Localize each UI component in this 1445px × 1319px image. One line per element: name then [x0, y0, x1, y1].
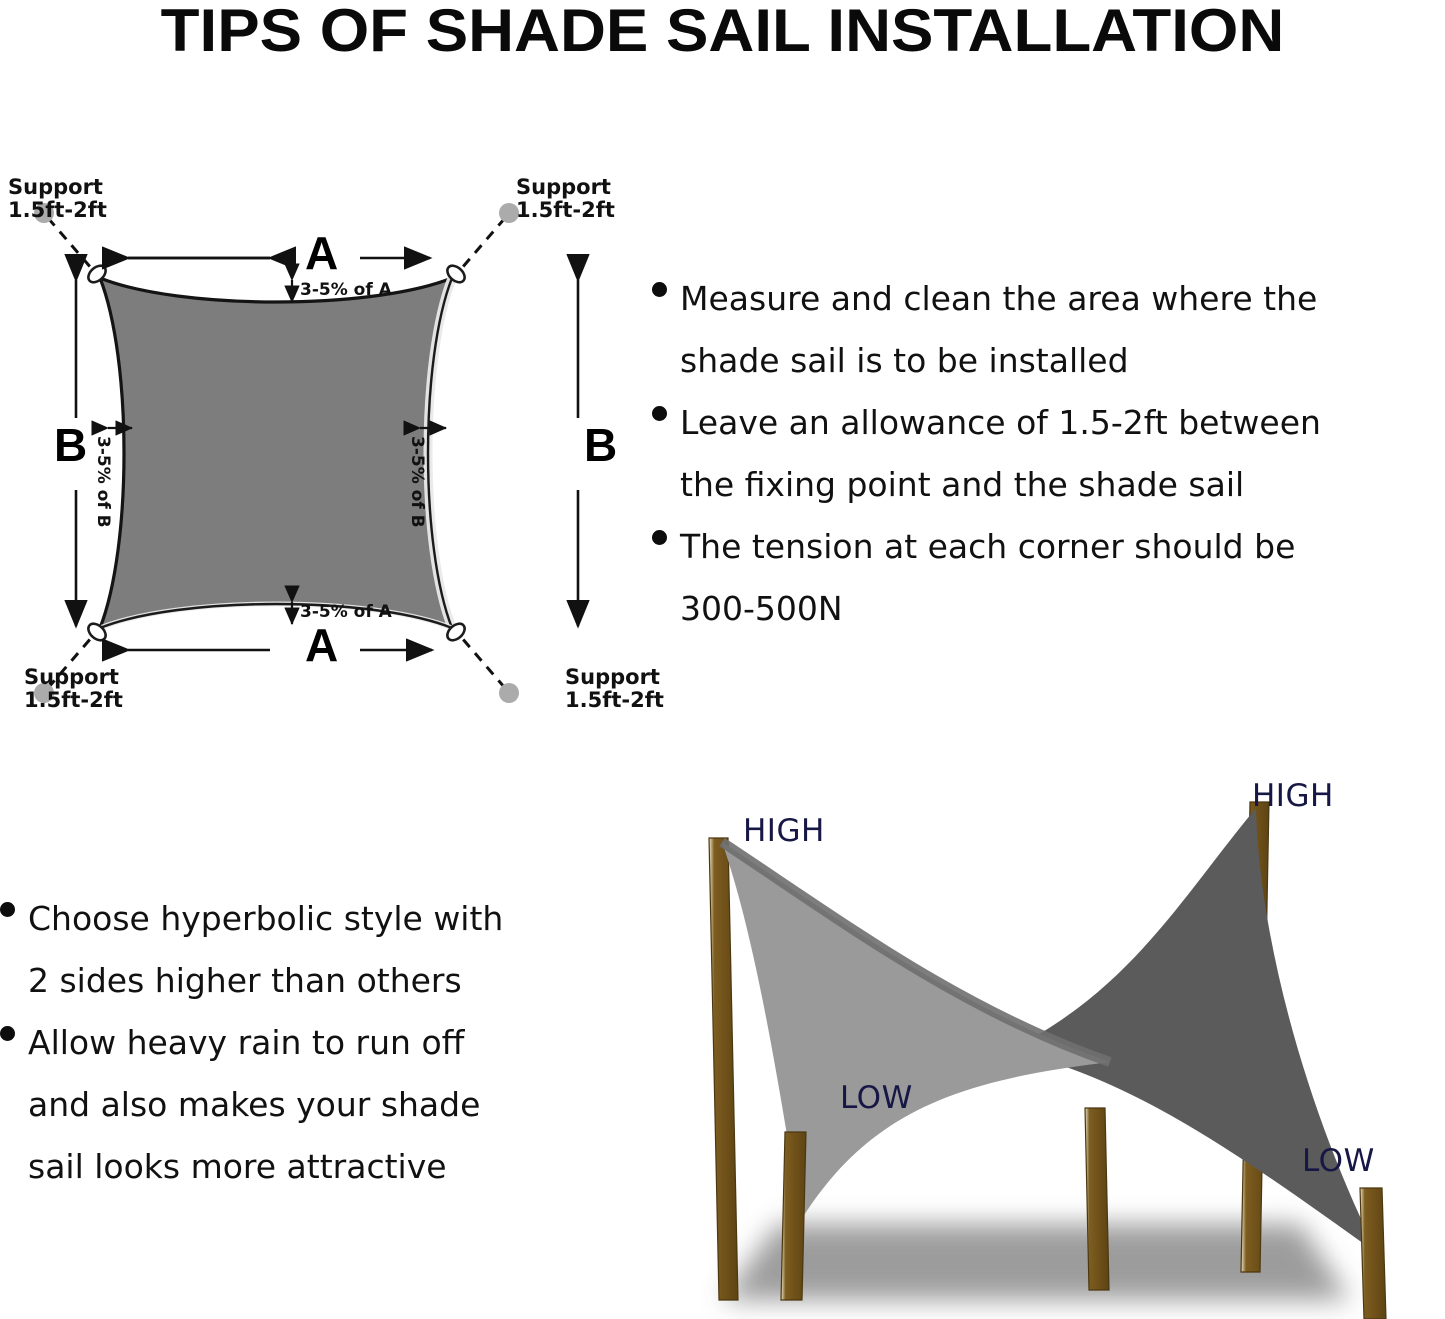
- list-item: Choose hyperbolic style with 2 sides hig…: [0, 888, 625, 1012]
- curve-label-top: 3-5% of A: [300, 281, 392, 299]
- support-line-top-right: [455, 218, 505, 276]
- support-line-bottom-right: [455, 630, 505, 688]
- bullet-dot-icon: [652, 282, 667, 297]
- label-high-right: HIGH: [1252, 778, 1334, 814]
- post-low-right: [1360, 1188, 1386, 1319]
- label-high-left: HIGH: [743, 813, 825, 849]
- support-dot-bottom-right: [499, 683, 519, 703]
- hyperbolic-sail-illustration: HIGH HIGH LOW LOW: [660, 780, 1445, 1319]
- tips-list-left: Choose hyperbolic style with 2 sides hig…: [0, 888, 625, 1198]
- list-item: Measure and clean the area where the sha…: [652, 268, 1445, 392]
- label-low-left: LOW: [840, 1080, 913, 1116]
- sail-shape: [100, 278, 452, 628]
- list-item: Leave an allowance of 1.5-2ft between th…: [652, 392, 1445, 516]
- page-title: TIPS OF SHADE SAIL INSTALLATION: [0, 0, 1445, 66]
- support-line-top-left: [48, 218, 98, 276]
- post-high-left: [709, 838, 738, 1300]
- support-label-top-right: Support 1.5ft-2ft: [516, 176, 615, 221]
- sail-panel-back: [1010, 808, 1378, 1254]
- sail-scene-graphics: [660, 780, 1445, 1319]
- dimension-letter-top-a: A: [305, 230, 338, 276]
- tip-text: Allow heavy rain to run off and also mak…: [28, 1012, 480, 1198]
- dimension-letter-bottom-a: A: [305, 622, 338, 668]
- tips-list-right: Measure and clean the area where the sha…: [652, 268, 1445, 640]
- support-label-bottom-left: Support 1.5ft-2ft: [24, 666, 123, 711]
- label-low-right: LOW: [1302, 1143, 1375, 1179]
- curve-label-right: 3-5% of B: [408, 436, 426, 528]
- dimension-letter-left-b: B: [54, 422, 87, 468]
- list-item: The tension at each corner should be 300…: [652, 516, 1445, 640]
- curve-label-left: 3-5% of B: [94, 436, 112, 528]
- dimension-letter-right-b: B: [584, 422, 617, 468]
- tip-text: Measure and clean the area where the sha…: [680, 268, 1317, 392]
- post-low-left: [781, 1132, 806, 1300]
- bullet-dot-icon: [0, 1026, 15, 1041]
- bullet-dot-icon: [0, 902, 15, 917]
- support-label-bottom-right: Support 1.5ft-2ft: [565, 666, 664, 711]
- tip-text: The tension at each corner should be 300…: [680, 516, 1295, 640]
- tip-text: Leave an allowance of 1.5-2ft between th…: [680, 392, 1321, 516]
- support-label-top-left: Support 1.5ft-2ft: [8, 176, 107, 221]
- bullet-dot-icon: [652, 530, 667, 545]
- post-mid-right: [1085, 1108, 1109, 1290]
- rectangular-sail-diagram: Support 1.5ft-2ft Support 1.5ft-2ft Supp…: [0, 150, 660, 730]
- curve-label-bottom: 3-5% of A: [300, 603, 392, 621]
- tip-text: Choose hyperbolic style with 2 sides hig…: [28, 888, 503, 1012]
- list-item: Allow heavy rain to run off and also mak…: [0, 1012, 625, 1198]
- bullet-dot-icon: [652, 406, 667, 421]
